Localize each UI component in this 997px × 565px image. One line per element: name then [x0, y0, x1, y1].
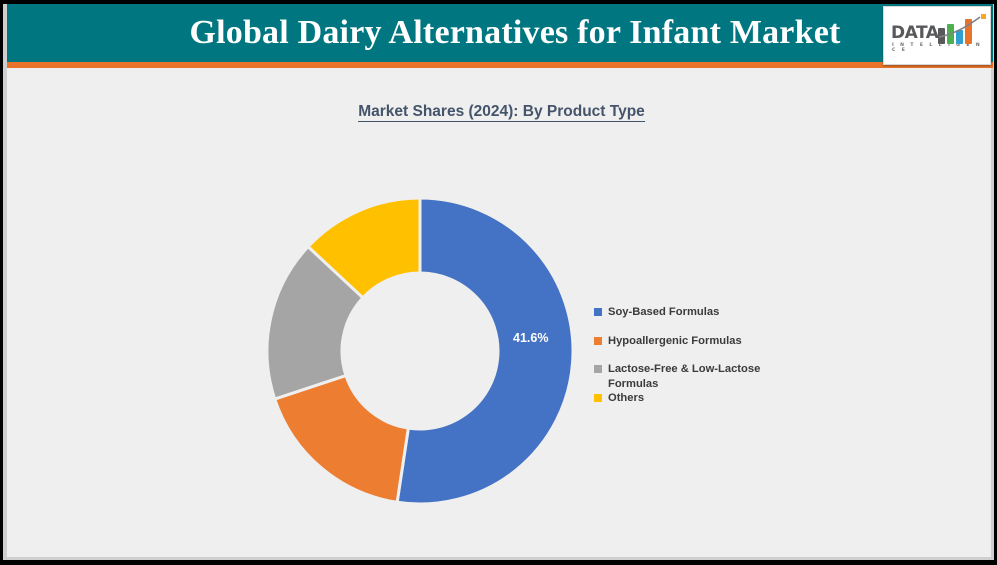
- arrow-tip-icon: [981, 14, 986, 19]
- legend-label-line2: Formulas: [608, 378, 658, 390]
- legend-label-line1: Lactose-Free & Low-Lactose: [608, 363, 760, 375]
- donut-slice-1[interactable]: [275, 375, 409, 502]
- donut-chart: 41.6%: [261, 192, 579, 512]
- brand-logo-subtitle: I N T E L L I G E N C E: [892, 43, 985, 53]
- legend-label: Lactose-Free & Low-Lactose Formulas: [608, 362, 760, 391]
- legend-item-soy-based-formulas[interactable]: Soy-Based Formulas: [594, 305, 794, 320]
- chart-legend: Soy-Based Formulas Hypoallergenic Formul…: [594, 305, 794, 406]
- brand-logo-wordmark: DATA: [891, 23, 938, 43]
- legend-label: Hypoallergenic Formulas: [608, 334, 742, 349]
- donut-chart-svg: [261, 192, 579, 512]
- trend-arrow-icon: [938, 15, 984, 39]
- legend-swatch-icon: [594, 308, 602, 316]
- legend-swatch-icon: [594, 337, 602, 345]
- legend-swatch-icon: [594, 394, 602, 402]
- chart-title-text: Market Shares (2024): By Product Type: [358, 103, 645, 122]
- header-accent-rule: [7, 62, 993, 68]
- page-title: Global Dairy Alternatives for Infant Mar…: [7, 4, 993, 62]
- legend-label: Others: [608, 391, 644, 406]
- legend-item-lactose-free-formulas[interactable]: Lactose-Free & Low-Lactose Formulas: [594, 362, 794, 391]
- legend-item-hypoallergenic-formulas[interactable]: Hypoallergenic Formulas: [594, 334, 794, 349]
- brand-logo[interactable]: DATA I N T E L L I G E N C E: [883, 6, 991, 65]
- legend-swatch-icon: [594, 365, 602, 373]
- slide-root: Global Dairy Alternatives for Infant Mar…: [0, 0, 997, 565]
- donut-slice-value-label: 41.6%: [513, 331, 548, 345]
- donut-slice-0[interactable]: [397, 198, 573, 504]
- brand-logo-inner: DATA I N T E L L I G E N C E: [889, 14, 985, 58]
- header-bar: Global Dairy Alternatives for Infant Mar…: [7, 4, 993, 62]
- legend-label: Soy-Based Formulas: [608, 305, 719, 320]
- legend-item-others[interactable]: Others: [594, 391, 794, 406]
- chart-title: Market Shares (2024): By Product Type: [3, 103, 997, 121]
